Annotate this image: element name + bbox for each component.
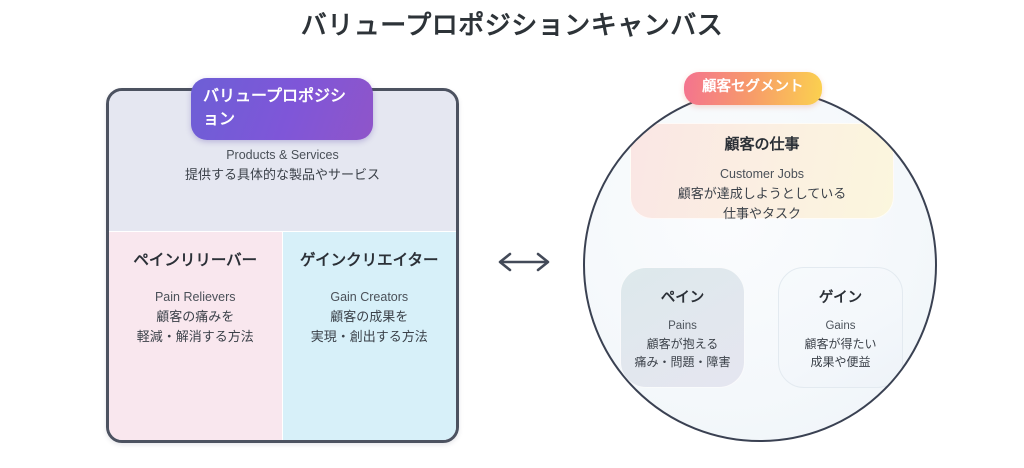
gains-en: Gains (779, 318, 902, 335)
pain-relievers-title: ペインリリーバー (109, 250, 282, 272)
pains-en: Pains (621, 318, 744, 335)
gain-creators-desc-line2: 実現・創出する方法 (283, 327, 457, 347)
gain-creators-content: ゲインクリエイター Gain Creators 顧客の成果を 実現・創出する方法 (283, 250, 457, 347)
customer-jobs-card: 顧客の仕事 Customer Jobs 顧客が達成しようとしている 仕事やタスク (630, 123, 894, 219)
gains-title: ゲイン (779, 288, 902, 309)
pain-relievers-en: Pain Relievers (109, 288, 282, 307)
pains-desc-line2: 痛み・問題・障害 (621, 353, 744, 371)
pains-desc-line1: 顧客が抱える (621, 335, 744, 353)
products-and-services-jp: 提供する具体的な製品やサービス (109, 165, 456, 185)
value-proposition-square: Products & Services 提供する具体的な製品やサービス ペインリ… (106, 88, 459, 443)
gain-creators-en: Gain Creators (283, 288, 457, 307)
customer-jobs-desc-line2: 仕事やタスク (631, 204, 893, 224)
customer-segment-badge: 顧客セグメント (684, 72, 822, 105)
pain-relievers-desc-line2: 軽減・解消する方法 (109, 327, 282, 347)
gains-card: ゲイン Gains 顧客が得たい 成果や便益 (778, 267, 903, 388)
customer-jobs-desc-line1: 顧客が達成しようとしている (631, 184, 893, 204)
pain-relievers-content: ペインリリーバー Pain Relievers 顧客の痛みを 軽減・解消する方法 (109, 250, 282, 347)
gains-desc-line2: 成果や便益 (779, 353, 902, 371)
bidirectional-arrow-icon (494, 248, 554, 276)
value-proposition-badge: バリュープロポジション (191, 78, 373, 140)
customer-jobs-title: 顧客の仕事 (631, 134, 893, 156)
pain-relievers-section: ペインリリーバー Pain Relievers 顧客の痛みを 軽減・解消する方法 (109, 232, 283, 443)
pains-title: ペイン (621, 288, 744, 309)
products-and-services-en: Products & Services (109, 146, 456, 165)
products-and-services-text: Products & Services 提供する具体的な製品やサービス (109, 146, 456, 185)
pain-relievers-desc-line1: 顧客の痛みを (109, 307, 282, 327)
gain-creators-section: ゲインクリエイター Gain Creators 顧客の成果を 実現・創出する方法 (283, 232, 457, 443)
gain-creators-title: ゲインクリエイター (283, 250, 457, 272)
page-title: バリュープロポジションキャンバス (0, 8, 1024, 42)
customer-segment-circle: 顧客の仕事 Customer Jobs 顧客が達成しようとしている 仕事やタスク… (583, 88, 937, 442)
customer-jobs-en: Customer Jobs (631, 165, 893, 184)
pains-card: ペイン Pains 顧客が抱える 痛み・問題・障害 (620, 267, 745, 388)
gains-desc-line1: 顧客が得たい (779, 335, 902, 353)
gain-creators-desc-line1: 顧客の成果を (283, 307, 457, 327)
